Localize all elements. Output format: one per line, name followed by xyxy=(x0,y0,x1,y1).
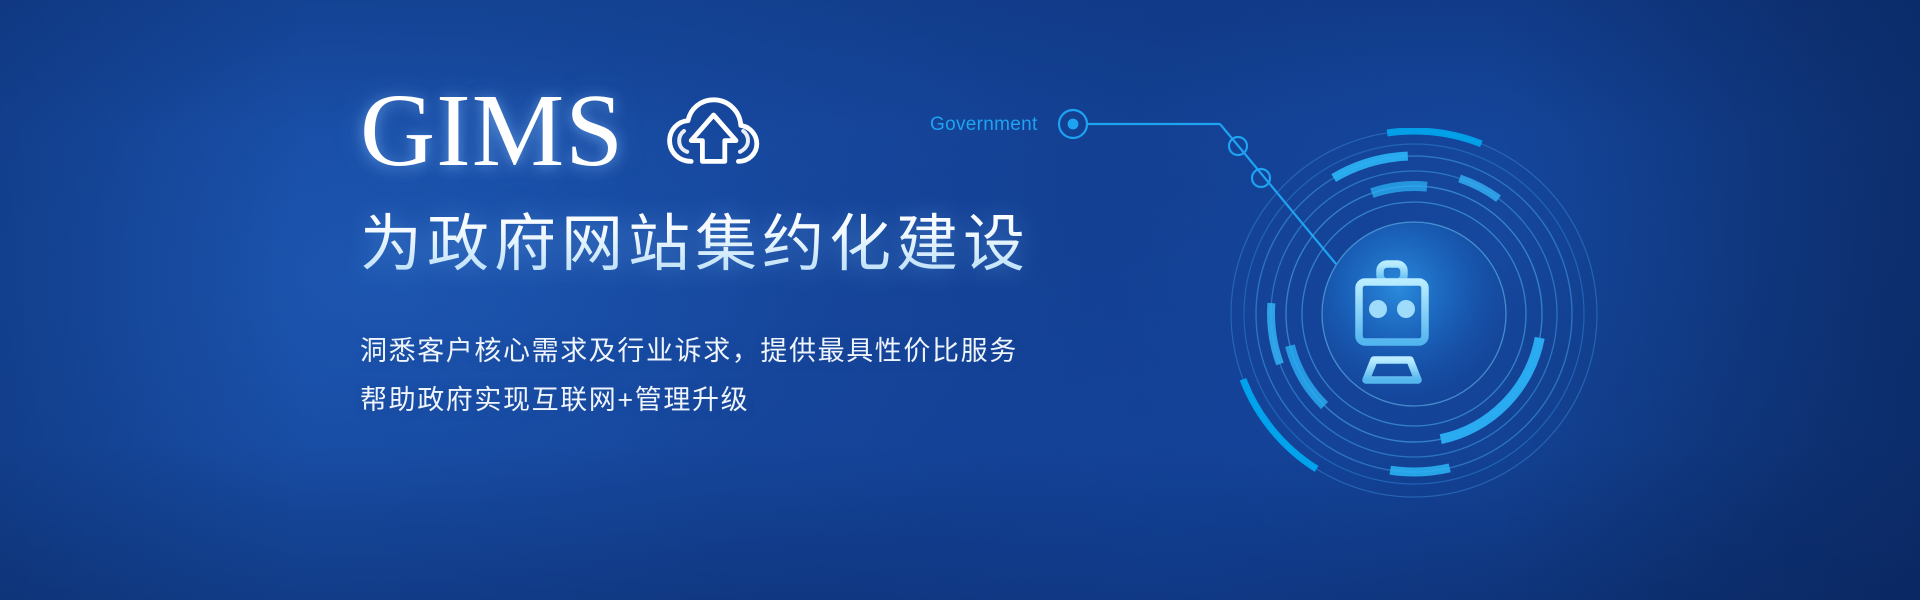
subline-group: 洞悉客户核心需求及行业诉求，提供最具性价比服务 帮助政府实现互联网+管理升级 xyxy=(360,327,1120,425)
tech-circle-graphic xyxy=(1228,128,1600,500)
node-dot-icon xyxy=(1068,119,1079,130)
hero-banner: GIMS 为政府网站集约化建设 洞悉客户核心需求及行业诉求，提供最具性价比服务 … xyxy=(0,0,1920,600)
subline-2: 帮助政府实现互联网+管理升级 xyxy=(360,376,1120,425)
subline-1: 洞悉客户核心需求及行业诉求，提供最具性价比服务 xyxy=(360,327,1120,376)
robot-eye-right-icon xyxy=(1397,300,1415,318)
robot-eye-left-icon xyxy=(1369,300,1387,318)
cloud-upload-icon xyxy=(664,94,760,168)
government-node-label: Government xyxy=(930,114,1038,136)
brand-title: GIMS xyxy=(360,79,624,183)
